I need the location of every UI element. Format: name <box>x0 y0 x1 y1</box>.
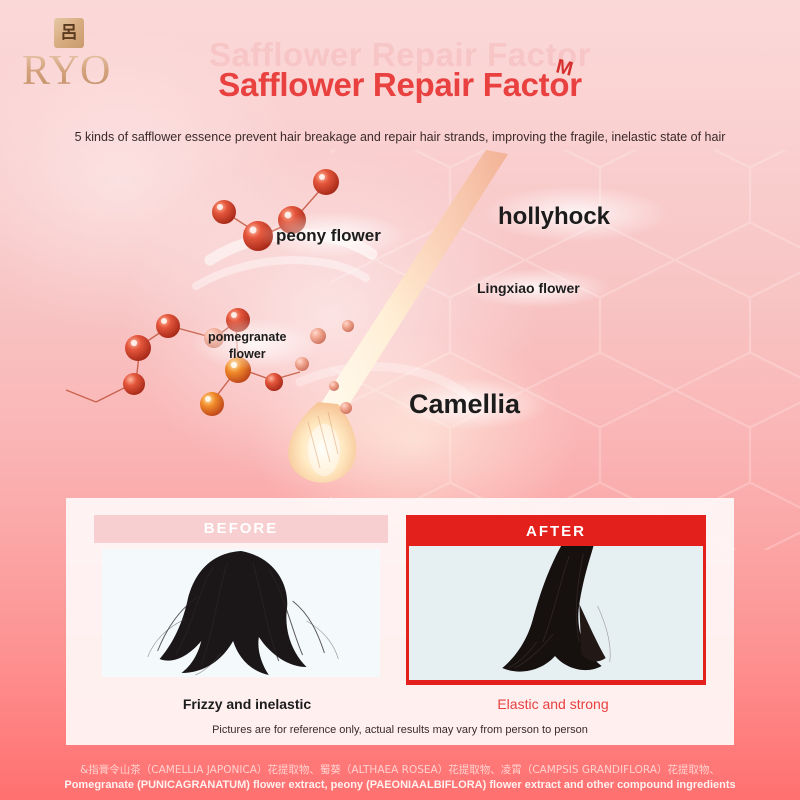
ingredient-label-peony-flower: peony flower <box>276 226 381 246</box>
before-after-panel: BEFORE <box>66 498 734 745</box>
footer-ingredients: &指膏令山茶（CAMELLIA JAPONICA）花提取物、蜀葵（ALTHAEA… <box>0 763 800 794</box>
before-hair-photo <box>102 549 380 677</box>
ingredient-label-camellia: Camellia <box>409 389 520 420</box>
ingredient-label-hollyhock: hollyhock <box>498 203 610 231</box>
after-hair-photo <box>409 546 703 680</box>
brand-seal-icon: 呂 <box>54 18 84 48</box>
after-header-label: AFTER <box>409 518 703 546</box>
ingredient-label-lingxiao-flower: Lingxiao flower <box>477 280 580 296</box>
before-card: BEFORE <box>94 515 388 685</box>
before-header-label: BEFORE <box>94 515 388 543</box>
product-poster: 呂 RYO Safflower Repair Factor Safflower … <box>0 0 800 800</box>
page-subtitle: 5 kinds of safflower essence prevent hai… <box>0 130 800 144</box>
ingredients-chinese-text: &指膏令山茶（CAMELLIA JAPONICA）花提取物、蜀葵（ALTHAEA… <box>0 763 800 778</box>
before-caption: Frizzy and inelastic <box>94 696 400 712</box>
before-after-captions: Frizzy and inelastic Elastic and strong <box>66 696 734 712</box>
hair-strand-illustration <box>0 150 800 490</box>
ingredient-label-pomegranate-line2: flower <box>208 346 287 363</box>
ingredient-label-pomegranate-line1: pomegranate <box>208 329 287 346</box>
ingredients-english-text: Pomegranate (PUNICAGRANATUM) flower extr… <box>0 778 800 794</box>
before-after-cards: BEFORE <box>66 498 734 685</box>
after-caption: Elastic and strong <box>400 696 706 712</box>
results-disclaimer: Pictures are for reference only, actual … <box>66 724 734 736</box>
page-title: Safflower Repair Factor <box>0 66 800 104</box>
ingredient-label-pomegranate-flower: pomegranate flower <box>208 329 287 363</box>
after-card: AFTER <box>406 515 706 685</box>
background-glow-center <box>120 150 540 490</box>
